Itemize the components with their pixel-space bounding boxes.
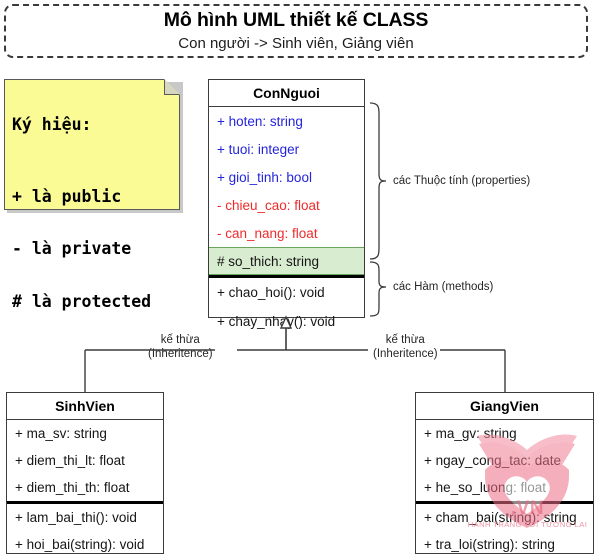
- class-name-sinhvien: SinhVien: [7, 393, 163, 420]
- class-box-giangvien[interactable]: GiangVien + ma_gv: string + ngay_cong_ta…: [415, 392, 594, 554]
- legend-line-protected: # là protected: [12, 294, 151, 311]
- inheritance-label-right-en: (Inheritence): [373, 347, 438, 361]
- methods-section-sinhvien: + lam_bai_thi(): void + hoi_bai(string):…: [7, 501, 163, 558]
- class-name-giangvien: GiangVien: [416, 393, 593, 420]
- class-name-connguoi: ConNguoi: [209, 80, 364, 107]
- attribute-row: + he_so_luong: float: [416, 474, 593, 501]
- inheritance-label-right-vi: kế thừa: [373, 333, 438, 347]
- attributes-section-sinhvien: + ma_sv: string + diem_thi_lt: float + d…: [7, 420, 163, 501]
- inheritance-label-left: kế thừa (Inheritence): [148, 333, 213, 362]
- method-row: + chao_hoi(): void: [209, 278, 364, 307]
- attribute-row: + ngay_cong_tac: date: [416, 447, 593, 474]
- brace-properties: [370, 103, 386, 259]
- annotation-methods: các Hàm (methods): [393, 281, 493, 293]
- attribute-row: + ma_sv: string: [7, 420, 163, 447]
- class-box-connguoi[interactable]: ConNguoi + hoten: string + tuoi: integer…: [208, 79, 365, 318]
- brace-methods: [370, 262, 386, 316]
- method-row: + lam_bai_thi(): void: [7, 504, 163, 531]
- attribute-row: + diem_thi_lt: float: [7, 447, 163, 474]
- attribute-row: + tuoi: integer: [209, 135, 364, 163]
- method-row: + chay_nhay(): void: [209, 307, 364, 336]
- legend-heading: Ký hiệu:: [12, 117, 151, 134]
- attribute-row: + diem_thi_th: float: [7, 474, 163, 501]
- annotation-properties: các Thuộc tính (properties): [393, 175, 530, 187]
- attribute-row: - can_nang: float: [209, 219, 364, 247]
- legend-line-public: + là public: [12, 189, 151, 206]
- page-title: Mô hình UML thiết kế CLASS: [164, 10, 429, 31]
- attributes-section-connguoi: + hoten: string + tuoi: integer + gioi_t…: [209, 107, 364, 275]
- methods-section-giangvien: + cham_bai(string): string + tra_loi(str…: [416, 501, 593, 558]
- class-box-sinhvien[interactable]: SinhVien + ma_sv: string + diem_thi_lt: …: [6, 392, 164, 554]
- method-row: + cham_bai(string): string: [416, 504, 593, 531]
- page-subtitle: Con người -> Sinh viên, Giảng viên: [178, 36, 413, 53]
- attribute-row: + ma_gv: string: [416, 420, 593, 447]
- legend-note: Ký hiệu: + là public - là private # là p…: [4, 79, 180, 210]
- legend-line-private: - là private: [12, 241, 151, 258]
- method-row: + hoi_bai(string): void: [7, 531, 163, 558]
- methods-section-connguoi: + chao_hoi(): void + chay_nhay(): void: [209, 275, 364, 336]
- inheritance-label-left-en: (Inheritence): [148, 347, 213, 361]
- method-row: + tra_loi(string): string: [416, 531, 593, 558]
- title-banner: Mô hình UML thiết kế CLASS Con người -> …: [4, 4, 588, 58]
- attribute-row: + gioi_tinh: bool: [209, 163, 364, 191]
- inheritance-label-left-vi: kế thừa: [148, 333, 213, 347]
- inheritance-label-right: kế thừa (Inheritence): [373, 333, 438, 362]
- diagram-canvas: Mô hình UML thiết kế CLASS Con người -> …: [0, 0, 600, 556]
- attribute-row: - chieu_cao: float: [209, 191, 364, 219]
- attribute-row-highlighted: # so_thich: string: [209, 247, 364, 275]
- attribute-row: + hoten: string: [209, 107, 364, 135]
- legend-text: Ký hiệu: + là public - là private # là p…: [12, 84, 151, 346]
- attributes-section-giangvien: + ma_gv: string + ngay_cong_tac: date + …: [416, 420, 593, 501]
